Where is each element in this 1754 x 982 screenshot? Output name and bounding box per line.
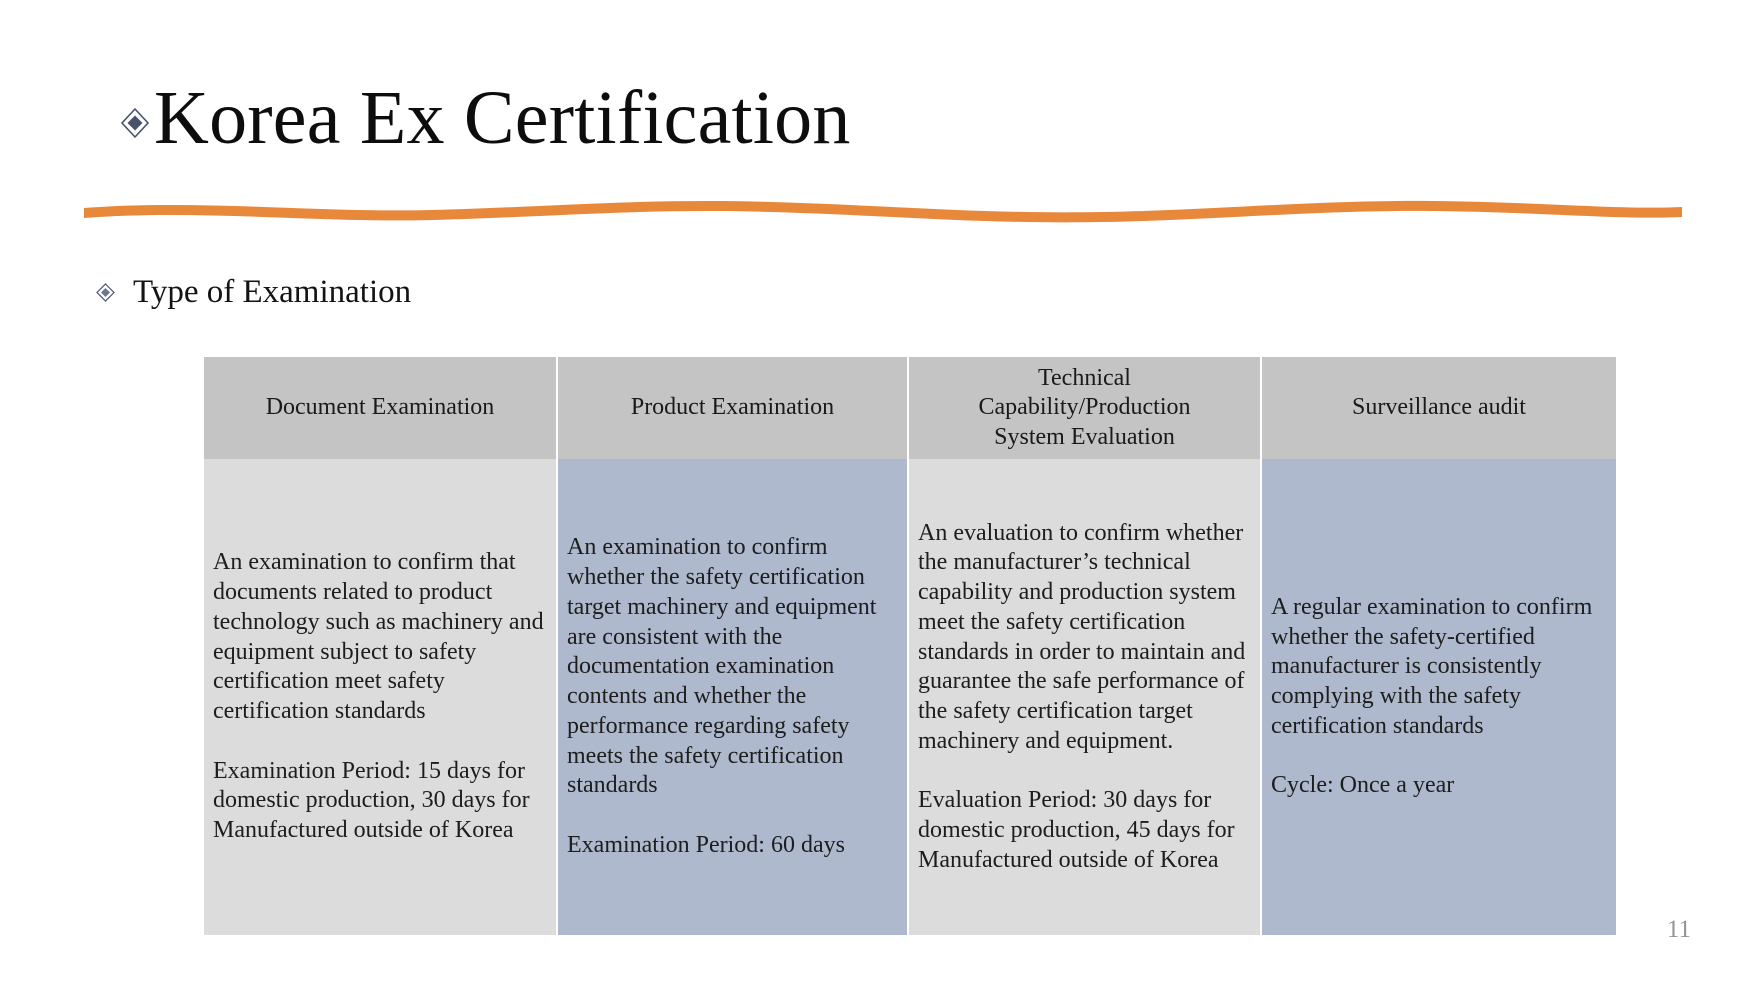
table-header-product-examination: Product Examination xyxy=(557,357,908,459)
slide-canvas: Korea Ex Certification Type of Examinati… xyxy=(0,0,1754,982)
diamond-bullet-icon xyxy=(118,106,152,140)
section-heading: Type of Examination xyxy=(96,274,411,310)
table-cell-surveillance-audit: A regular examination to confirm whether… xyxy=(1261,459,1616,935)
page-title-text: Korea Ex Certification xyxy=(154,80,851,156)
page-number: 11 xyxy=(1667,916,1691,944)
table-row: An examination to confirm that documents… xyxy=(204,459,1616,935)
table-cell-product-examination: An examination to confirm whether the sa… xyxy=(557,459,908,935)
cell-text: An examination to confirm whether the sa… xyxy=(567,533,897,860)
table-cell-document-examination: An examination to confirm that documents… xyxy=(204,459,557,935)
examination-types-table: Document Examination Product Examination… xyxy=(204,357,1616,935)
section-heading-text: Type of Examination xyxy=(133,274,411,310)
diamond-bullet-icon xyxy=(96,283,115,302)
table-header-document-examination: Document Examination xyxy=(204,357,557,459)
accent-divider xyxy=(82,188,1684,228)
cell-text: An evaluation to confirm whether the man… xyxy=(918,519,1250,876)
table-cell-technical-capability: An evaluation to confirm whether the man… xyxy=(908,459,1261,935)
cell-text: A regular examination to confirm whether… xyxy=(1271,593,1606,801)
table-header-row: Document Examination Product Examination… xyxy=(204,357,1616,459)
page-title: Korea Ex Certification xyxy=(118,80,851,156)
table-header-surveillance-audit: Surveillance audit xyxy=(1261,357,1616,459)
table-header-technical-capability: TechnicalCapability/ProductionSystem Eva… xyxy=(908,357,1261,459)
cell-text: An examination to confirm that documents… xyxy=(213,548,546,846)
